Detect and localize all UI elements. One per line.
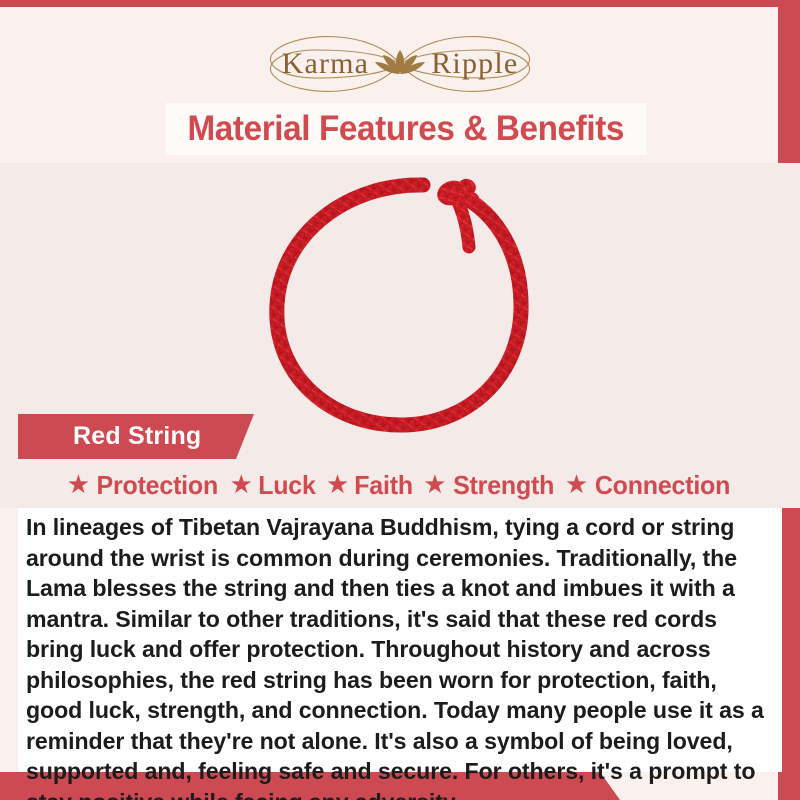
page-title: Material Features & Benefits	[188, 109, 625, 149]
benefit-label: Faith	[354, 470, 413, 501]
benefit-label: Luck	[258, 470, 315, 501]
title-band: Material Features & Benefits	[165, 103, 647, 155]
material-banner: Red String	[18, 414, 254, 459]
material-name-label: Red String	[73, 422, 201, 451]
infographic-card: Karma Ripple Material Features & Benefit…	[0, 0, 800, 800]
star-icon: ★	[423, 471, 446, 497]
brand-name-left: Karma	[282, 47, 370, 81]
star-icon: ★	[67, 471, 90, 497]
benefit-item-protection: ★ Protection	[67, 470, 221, 501]
star-icon: ★	[565, 471, 588, 497]
description-panel: In lineages of Tibetan Vajrayana Buddhis…	[18, 508, 782, 772]
frame-top-bar	[0, 0, 800, 7]
brand-logo: Karma Ripple	[0, 30, 800, 98]
benefit-item-luck: ★ Luck	[230, 470, 317, 501]
benefits-row: ★ Protection ★ Luck ★ Faith ★ Strength ★…	[0, 464, 800, 506]
benefit-label: Strength	[453, 470, 554, 501]
benefit-label: Protection	[97, 470, 219, 501]
star-icon: ★	[230, 471, 253, 497]
star-icon: ★	[326, 471, 349, 497]
brand-name-right: Ripple	[431, 47, 518, 81]
red-string-bracelet-image	[255, 173, 555, 443]
description-text: In lineages of Tibetan Vajrayana Buddhis…	[26, 512, 767, 800]
benefit-item-strength: ★ Strength	[423, 470, 556, 501]
benefit-item-faith: ★ Faith	[326, 470, 414, 501]
benefit-item-connection: ★ Connection	[565, 470, 733, 501]
benefit-label: Connection	[595, 470, 730, 501]
